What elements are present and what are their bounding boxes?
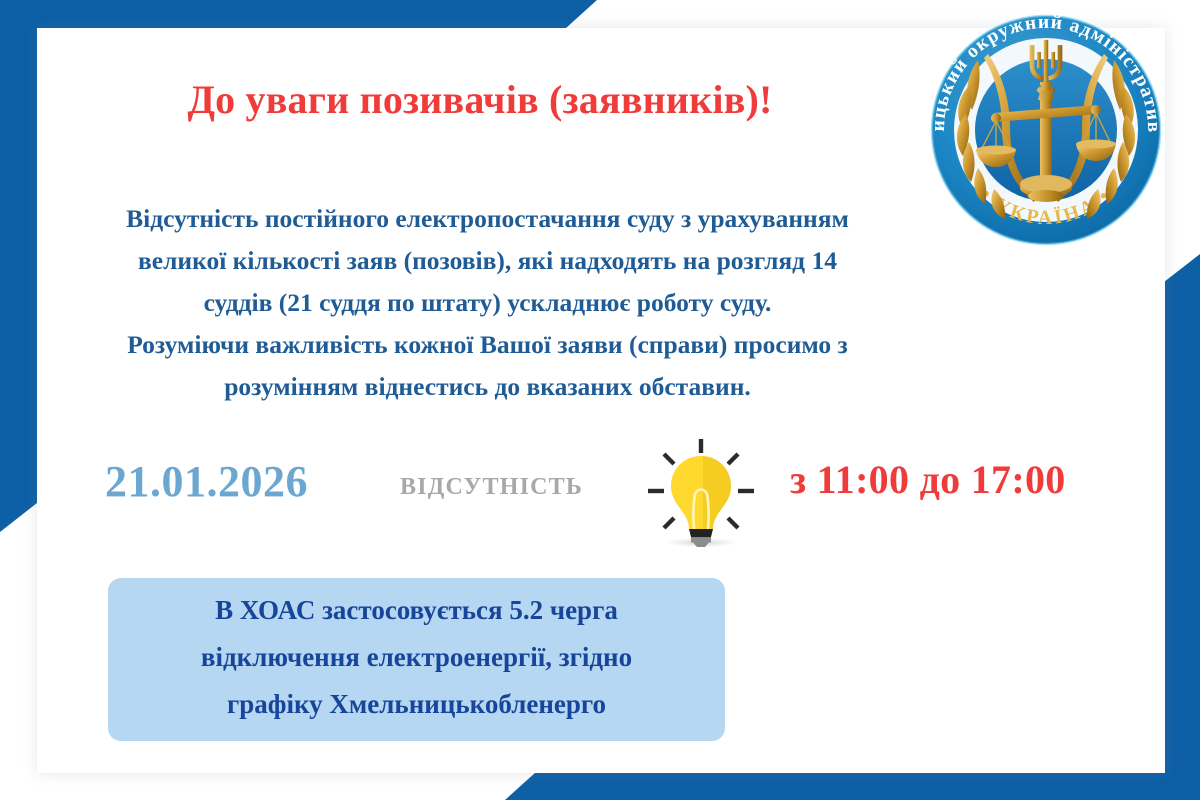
body-line: суддів (21 суддя по штату) ускладнює роб… — [45, 282, 930, 324]
outage-time-range: з 11:00 до 17:00 — [790, 456, 1066, 503]
body-line: Розуміючи важливість кожної Вашої заяви … — [45, 324, 930, 366]
page-title: До уваги позивачів (заявників)! — [60, 76, 900, 123]
notice-line: В ХОАС застосовується 5.2 черга — [108, 587, 725, 634]
body-line: розумінням віднестись до вказаних обстав… — [45, 366, 930, 408]
lightbulb-icon — [640, 436, 760, 551]
announcement-poster: До уваги позивачів (заявників)! Відсутні… — [0, 0, 1200, 800]
notice-box: В ХОАС застосовується 5.2 черга відключе… — [108, 578, 725, 741]
body-line: Відсутність постійного електропостачання… — [45, 198, 930, 240]
body-paragraph: Відсутність постійного електропостачання… — [45, 198, 930, 408]
outage-status-label: ВІДСУТНІСТЬ — [400, 474, 583, 501]
body-line: великої кількості заяв (позовів), які на… — [45, 240, 930, 282]
poster-content: До уваги позивачів (заявників)! Відсутні… — [0, 0, 1200, 800]
notice-text: В ХОАС застосовується 5.2 черга відключе… — [108, 587, 725, 732]
court-emblem: Хмельницький окружний адміністративний с… — [922, 0, 1170, 252]
outage-date: 21.01.2026 — [105, 456, 308, 507]
outage-details-row: 21.01.2026 ВІДСУТНІСТЬ — [60, 432, 1140, 552]
notice-line: графіку Хмельницькобленерго — [108, 681, 725, 728]
lightbulb-shadow — [666, 538, 736, 547]
notice-line: відключення електроенергії, згідно — [108, 634, 725, 681]
